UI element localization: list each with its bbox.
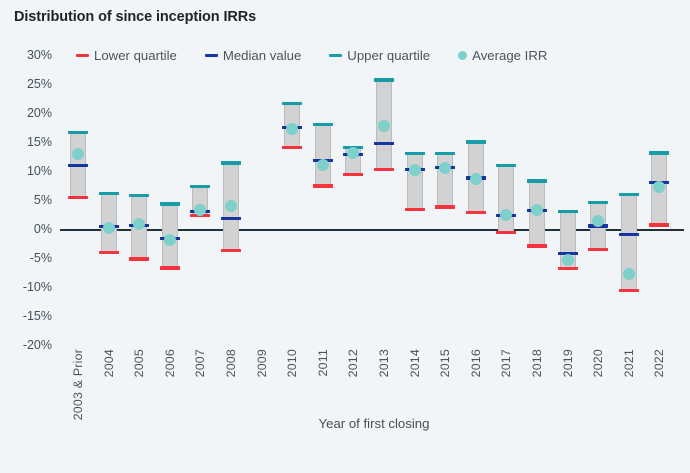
lower-quartile-marker	[435, 205, 455, 208]
median-marker	[68, 164, 88, 167]
lower-quartile-marker	[313, 184, 333, 187]
average-irr-dot	[439, 162, 451, 174]
average-irr-dot	[592, 215, 604, 227]
lower-quartile-marker	[405, 208, 425, 211]
average-irr-dot	[347, 147, 359, 159]
y-axis-tick-label: 10%	[6, 164, 52, 178]
average-irr-dot	[562, 254, 574, 266]
average-irr-dot	[653, 181, 665, 193]
x-axis-tick-label: 2015	[438, 349, 452, 377]
lower-quartile-marker	[374, 168, 394, 171]
lower-quartile-marker	[466, 211, 486, 214]
average-irr-dot	[378, 120, 390, 132]
average-irr-dot	[409, 164, 421, 176]
x-axis-tick-label: 2011	[316, 349, 330, 376]
x-axis-tick-label: 2005	[132, 349, 146, 377]
x-axis-tick-label: 2010	[285, 349, 299, 377]
average-irr-dot	[72, 148, 84, 160]
average-irr-dot	[194, 204, 206, 216]
lower-quartile-marker	[282, 146, 302, 149]
upper-quartile-marker	[190, 185, 210, 188]
x-axis-tick-label: 2004	[102, 349, 116, 377]
upper-quartile-marker	[313, 123, 333, 126]
x-axis-tick-label: 2017	[499, 349, 513, 377]
average-irr-dot	[317, 159, 329, 171]
plot-area: 30%25%20%15%10%5%0%-5%-10%-15%-20%	[60, 55, 688, 345]
upper-quartile-marker	[374, 78, 394, 81]
lower-quartile-marker	[221, 249, 241, 252]
average-irr-dot	[470, 173, 482, 185]
average-irr-dot	[623, 268, 635, 280]
average-irr-dot	[225, 200, 237, 212]
average-irr-dot	[531, 204, 543, 216]
upper-quartile-marker	[496, 164, 516, 167]
average-irr-dot	[286, 123, 298, 135]
upper-quartile-marker	[221, 161, 241, 164]
lower-quartile-marker	[527, 244, 547, 247]
chart-container: Distribution of since inception IRRs Low…	[0, 0, 690, 473]
y-axis-tick-label: 15%	[6, 135, 52, 149]
x-axis-tick-label: 2014	[408, 349, 422, 377]
x-axis-tick-label: 2006	[163, 349, 177, 377]
chart-title: Distribution of since inception IRRs	[14, 9, 256, 25]
x-axis-tick-label: 2021	[622, 349, 636, 377]
x-axis-tick-label: 2013	[377, 349, 391, 377]
median-marker	[221, 217, 241, 220]
x-axis-tick-label: 2003 & Prior	[71, 349, 85, 420]
lower-quartile-marker	[558, 267, 578, 270]
x-axis-tick-label: 2008	[224, 349, 238, 377]
lower-quartile-marker	[160, 266, 180, 269]
upper-quartile-marker	[619, 193, 639, 196]
x-axis-tick-label: 2009	[255, 349, 269, 377]
upper-quartile-marker	[527, 179, 547, 182]
y-axis-tick-label: -15%	[6, 309, 52, 323]
quartile-box	[498, 165, 514, 232]
lower-quartile-marker	[619, 289, 639, 292]
y-axis-tick-label: -10%	[6, 280, 52, 294]
average-irr-dot	[103, 222, 115, 234]
x-axis-tick-label: 2019	[561, 349, 575, 377]
lower-quartile-marker	[496, 231, 516, 234]
x-axis-tick-label: 2020	[591, 349, 605, 377]
lower-quartile-marker	[649, 223, 669, 226]
upper-quartile-marker	[558, 210, 578, 213]
y-axis-tick-label: 20%	[6, 106, 52, 120]
y-axis-tick-label: -5%	[6, 251, 52, 265]
upper-quartile-marker	[588, 201, 608, 204]
median-marker	[619, 233, 639, 236]
y-axis-tick-label: 30%	[6, 48, 52, 62]
upper-quartile-marker	[649, 151, 669, 154]
lower-quartile-marker	[343, 173, 363, 176]
lower-quartile-marker	[588, 248, 608, 251]
median-marker	[374, 142, 394, 145]
quartile-box	[407, 154, 423, 210]
y-axis-tick-label: 25%	[6, 77, 52, 91]
lower-quartile-marker	[129, 257, 149, 260]
x-axis-tick-label: 2012	[346, 349, 360, 377]
upper-quartile-marker	[129, 194, 149, 197]
x-axis-tick-label: 2016	[469, 349, 483, 377]
lower-quartile-marker	[68, 196, 88, 199]
upper-quartile-marker	[405, 152, 425, 155]
y-axis-tick-label: 0%	[6, 222, 52, 236]
average-irr-dot	[133, 218, 145, 230]
x-axis-tick-label: 2018	[530, 349, 544, 377]
upper-quartile-marker	[160, 202, 180, 205]
upper-quartile-marker	[99, 192, 119, 195]
x-axis-tick-label: 2022	[652, 349, 666, 377]
lower-quartile-marker	[99, 251, 119, 254]
y-axis-tick-label: -20%	[6, 338, 52, 352]
average-irr-dot	[500, 209, 512, 221]
upper-quartile-marker	[466, 140, 486, 143]
x-axis-title: Year of first closing	[60, 416, 688, 431]
upper-quartile-marker	[68, 131, 88, 134]
x-axis-tick-label: 2007	[193, 349, 207, 377]
y-axis-tick-label: 5%	[6, 193, 52, 207]
upper-quartile-marker	[282, 102, 302, 105]
average-irr-dot	[164, 234, 176, 246]
quartile-box	[315, 125, 331, 186]
upper-quartile-marker	[435, 152, 455, 155]
